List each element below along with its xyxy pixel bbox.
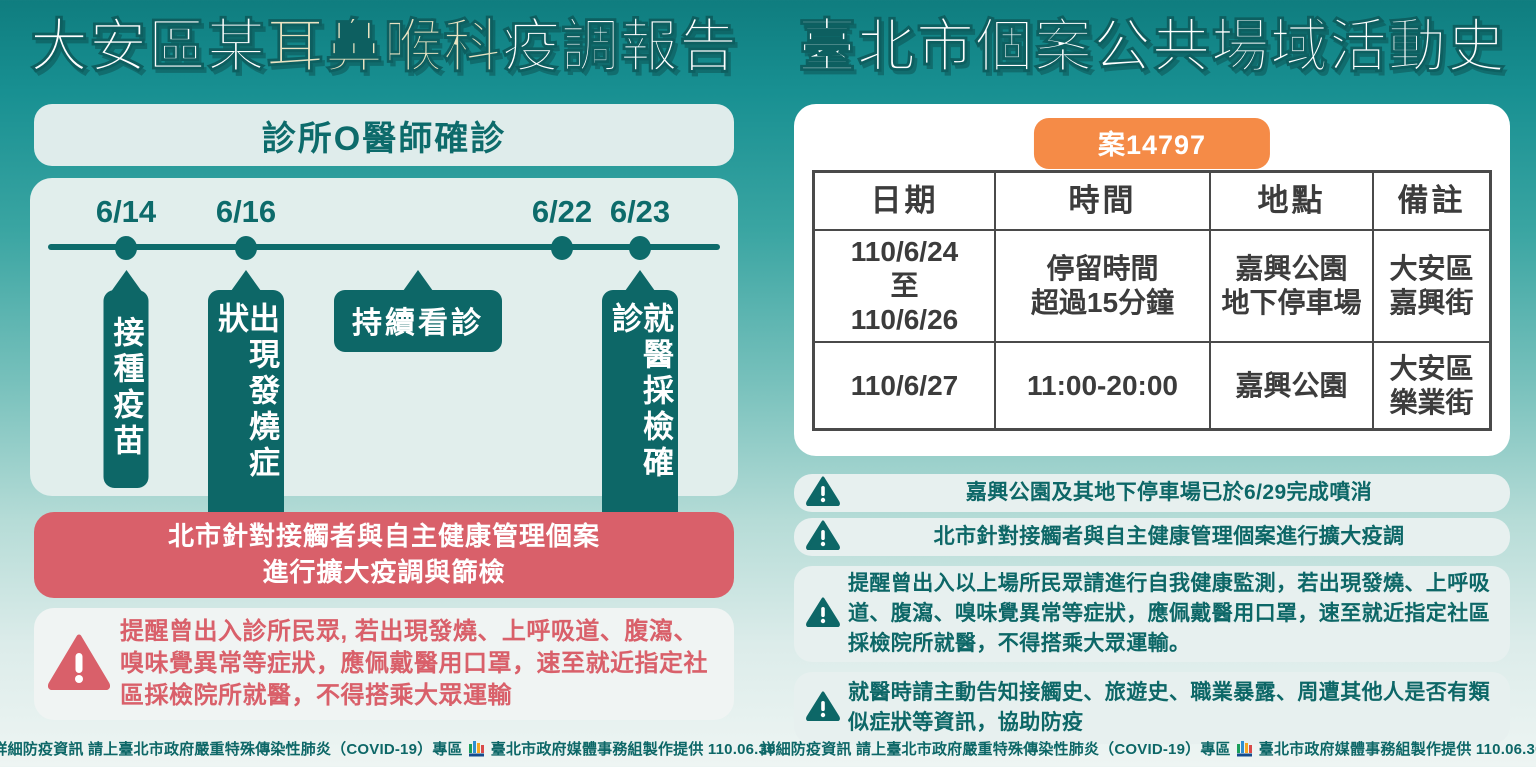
timeline-date-label: 6/23 xyxy=(610,194,670,230)
timeline-event-pill: 接種疫苗 xyxy=(104,290,149,488)
timeline-dot xyxy=(551,236,573,260)
warning-triangle-icon xyxy=(806,691,840,726)
column-header-date: 日期 xyxy=(814,172,995,230)
taipei-logo-icon xyxy=(468,741,486,757)
table-cell-note: 大安區樂業街 xyxy=(1373,342,1490,430)
right-note-text: 北市針對接觸者與自主健康管理個案進行擴大疫調 xyxy=(840,522,1498,552)
footer-right: 詳細防疫資訊 請上臺北市政府嚴重特殊傳染性肺炎（COVID-19）專區 臺北市政… xyxy=(768,738,1536,759)
table-cell-place: 嘉興公園地下停車場 xyxy=(1210,230,1373,342)
timeline-event-pill: 就醫採檢確診 xyxy=(602,290,678,530)
warning-triangle-icon xyxy=(48,634,110,695)
timeline-date-label: 6/22 xyxy=(532,194,592,230)
table-cell-place: 嘉興公園 xyxy=(1210,342,1373,430)
table-cell-time: 11:00-20:00 xyxy=(995,342,1210,430)
timeline-dot xyxy=(235,236,257,260)
table-header-row: 日期 時間 地點 備註 xyxy=(814,172,1491,230)
footer-right-text: 詳細防疫資訊 請上臺北市政府嚴重特殊傳染性肺炎（COVID-19）專區 xyxy=(760,738,1230,759)
case-number-badge: 案14797 xyxy=(1034,118,1270,169)
right-note-item: 嘉興公園及其地下停車場已於6/29完成噴消 xyxy=(794,474,1510,512)
expanded-investigation-notice: 北市針對接觸者與自主健康管理個案 進行擴大疫調與篩檢 xyxy=(34,512,734,598)
table-row: 110/6/2711:00-20:00嘉興公園大安區樂業街 xyxy=(814,342,1491,430)
warning-triangle-icon xyxy=(806,476,840,511)
left-warning-text: 提醒曾出入診所民眾, 若出現發燒、上呼吸道、腹瀉、嗅味覺異常等症狀，應佩戴醫用口… xyxy=(120,616,720,712)
infographic-page: 大安區某耳鼻喉科疫調報告 診所O醫師確診 6/14接種疫苗6/16出現發燒症狀6… xyxy=(0,0,1536,767)
table-cell-date: 110/6/27 xyxy=(814,342,995,430)
timeline-dot xyxy=(629,236,651,260)
warning-triangle-icon xyxy=(806,520,840,555)
right-note-text: 就醫時請主動告知接觸史、旅遊史、職業暴露、周遭其他人是否有類似症狀等資訊，協助防… xyxy=(848,678,1498,738)
right-panel: 臺北市個案公共場域活動史 案14797 日期 時間 地點 備註 110/6/24… xyxy=(768,0,1536,767)
footer-right-credit: 臺北市政府媒體事務組製作提供 110.06.30 xyxy=(1259,738,1536,759)
timeline-event-pill: 出現發燒症狀 xyxy=(208,290,284,530)
column-header-note: 備註 xyxy=(1373,172,1490,230)
left-headline: 大安區某耳鼻喉科疫調報告 xyxy=(0,18,768,76)
red-notice-line-1: 北市針對接觸者與自主健康管理個案 xyxy=(168,519,600,555)
right-note-item: 提醒曾出入以上場所民眾請進行自我健康監測，若出現發燒、上呼吸道、腹瀉、嗅味覺異常… xyxy=(794,566,1510,662)
right-headline: 臺北市個案公共場域活動史 xyxy=(768,18,1536,76)
footer-left-text: 詳細防疫資訊 請上臺北市政府嚴重特殊傳染性肺炎（COVID-19）專區 xyxy=(0,738,463,759)
table-cell-date: 110/6/24至110/6/26 xyxy=(814,230,995,342)
activity-history-card: 案14797 日期 時間 地點 備註 110/6/24至110/6/26停留時間… xyxy=(794,104,1510,456)
right-note-text: 嘉興公園及其地下停車場已於6/29完成噴消 xyxy=(840,478,1498,508)
clinic-subtitle-text: 診所O醫師確診 xyxy=(262,111,506,160)
table-cell-note: 大安區嘉興街 xyxy=(1373,230,1490,342)
column-header-time: 時間 xyxy=(995,172,1210,230)
right-note-text: 提醒曾出入以上場所民眾請進行自我健康監測，若出現發燒、上呼吸道、腹瀉、嗅味覺異常… xyxy=(848,569,1498,660)
timeline-dot xyxy=(115,236,137,260)
timeline-axis xyxy=(48,244,720,250)
left-panel: 大安區某耳鼻喉科疫調報告 診所O醫師確診 6/14接種疫苗6/16出現發燒症狀6… xyxy=(0,0,768,767)
column-header-place: 地點 xyxy=(1210,172,1373,230)
right-note-item: 就醫時請主動告知接觸史、旅遊史、職業暴露、周遭其他人是否有類似症狀等資訊，協助防… xyxy=(794,672,1510,744)
clinic-subtitle-bar: 診所O醫師確診 xyxy=(34,104,734,166)
left-headline-pre: 大安區某 xyxy=(30,14,266,79)
red-notice-line-2: 進行擴大疫調與篩檢 xyxy=(262,555,505,591)
table-cell-time: 停留時間超過15分鐘 xyxy=(995,230,1210,342)
left-headline-highlight: 耳鼻喉科 xyxy=(266,14,502,79)
right-note-item: 北市針對接觸者與自主健康管理個案進行擴大疫調 xyxy=(794,518,1510,556)
activity-history-table: 日期 時間 地點 備註 110/6/24至110/6/26停留時間超過15分鐘嘉… xyxy=(812,170,1492,431)
timeline-card: 6/14接種疫苗6/16出現發燒症狀6/22持續看診6/23就醫採檢確診 xyxy=(30,178,738,496)
footer-left-credit: 臺北市政府媒體事務組製作提供 110.06.30 xyxy=(491,738,776,759)
timeline-date-label: 6/14 xyxy=(96,194,156,230)
footer-left: 詳細防疫資訊 請上臺北市政府嚴重特殊傳染性肺炎（COVID-19）專區 臺北市政… xyxy=(0,738,768,759)
left-headline-post: 疫調報告 xyxy=(502,14,738,79)
table-row: 110/6/24至110/6/26停留時間超過15分鐘嘉興公園地下停車場大安區嘉… xyxy=(814,230,1491,342)
timeline-date-label: 6/16 xyxy=(216,194,276,230)
left-warning-box: 提醒曾出入診所民眾, 若出現發燒、上呼吸道、腹瀉、嗅味覺異常等症狀，應佩戴醫用口… xyxy=(34,608,734,720)
warning-triangle-icon xyxy=(806,597,840,632)
taipei-logo-icon xyxy=(1236,741,1254,757)
timeline-event-pill: 持續看診 xyxy=(334,290,502,352)
table-body: 110/6/24至110/6/26停留時間超過15分鐘嘉興公園地下停車場大安區嘉… xyxy=(814,230,1491,430)
